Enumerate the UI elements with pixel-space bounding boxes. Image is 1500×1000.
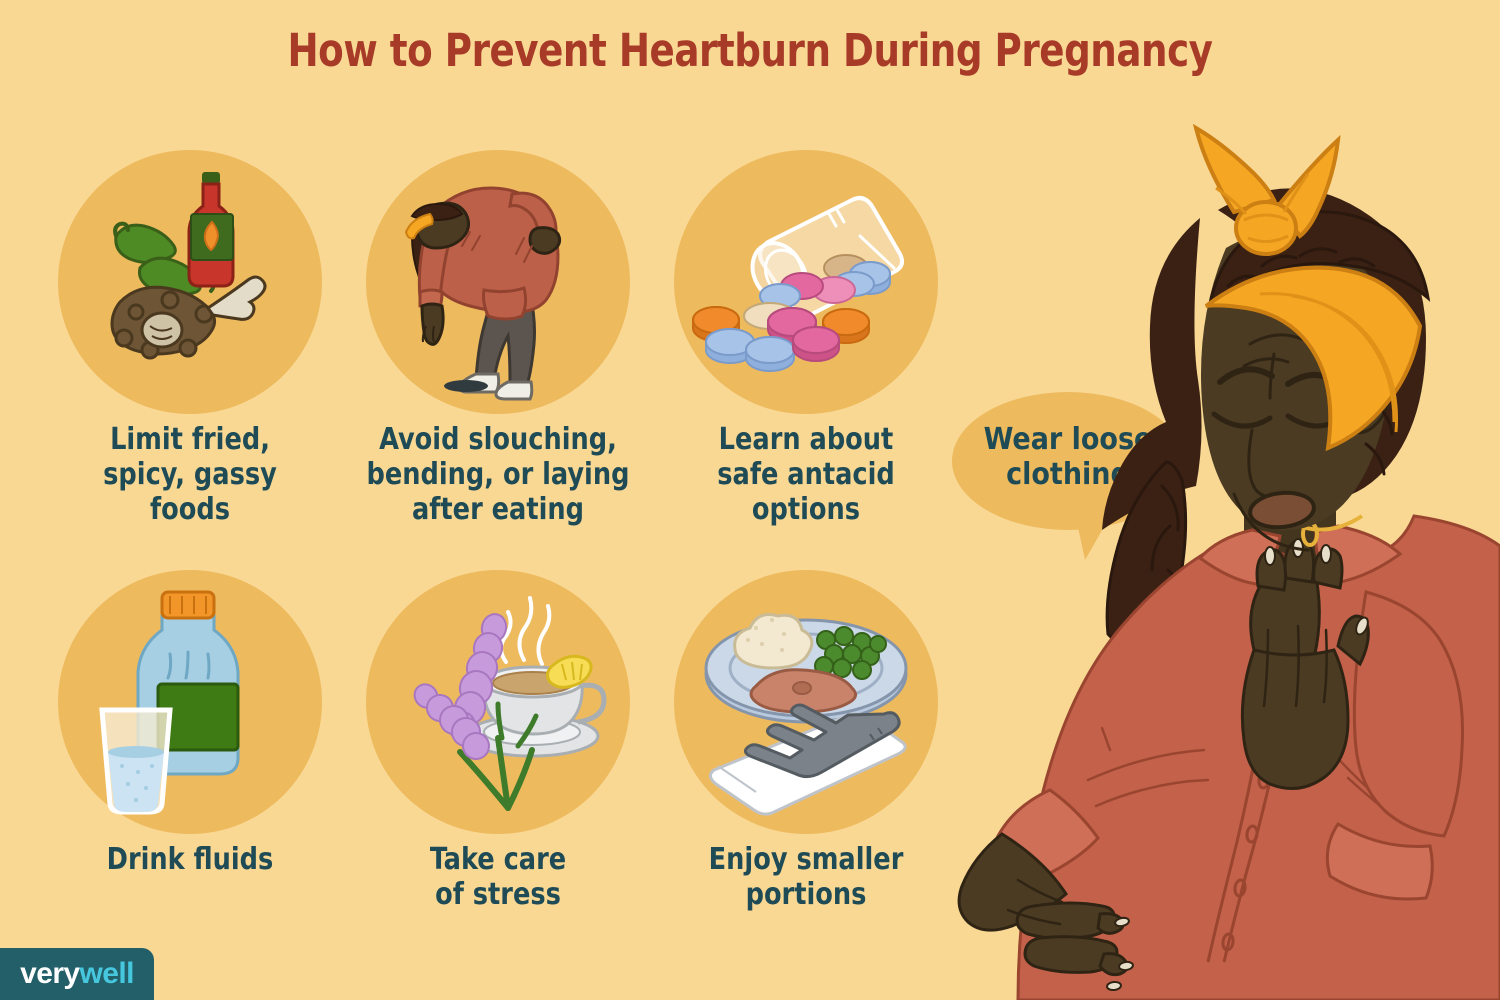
pregnant-woman-with-heartburn-icon — [900, 90, 1500, 1000]
tip-icon-circle — [58, 150, 322, 414]
pill-bottle-icon — [674, 150, 938, 414]
tip-label: Drink fluids — [48, 842, 333, 877]
verywell-logo[interactable]: verywell — [0, 948, 154, 1000]
tip-icon-circle — [366, 150, 630, 414]
tip-icon-circle — [366, 570, 630, 834]
logo-text-very: very — [20, 957, 79, 990]
tip-label: Limit fried, spicy, gassy foods — [48, 422, 333, 527]
person-bending-icon — [366, 150, 630, 414]
infographic-canvas: How to Prevent Heartburn During Pregnanc… — [0, 0, 1500, 1000]
tip-icon-circle — [58, 570, 322, 834]
tip-label: Avoid slouching, bending, or laying afte… — [356, 422, 641, 527]
tip-icon-circle — [674, 150, 938, 414]
tea-lavender-icon — [366, 570, 630, 834]
tip-label: Take care of stress — [356, 842, 641, 912]
page-title: How to Prevent Heartburn During Pregnanc… — [60, 24, 1440, 77]
logo-text-well: well — [80, 957, 134, 990]
pregnant-woman-illustration — [900, 90, 1500, 1000]
spicy-fried-food-icon — [58, 150, 322, 414]
plate-meal-fork-icon — [674, 570, 938, 834]
tip-icon-circle — [674, 570, 938, 834]
logo-text: verywell — [20, 957, 134, 991]
water-bottle-glass-icon — [58, 570, 322, 834]
